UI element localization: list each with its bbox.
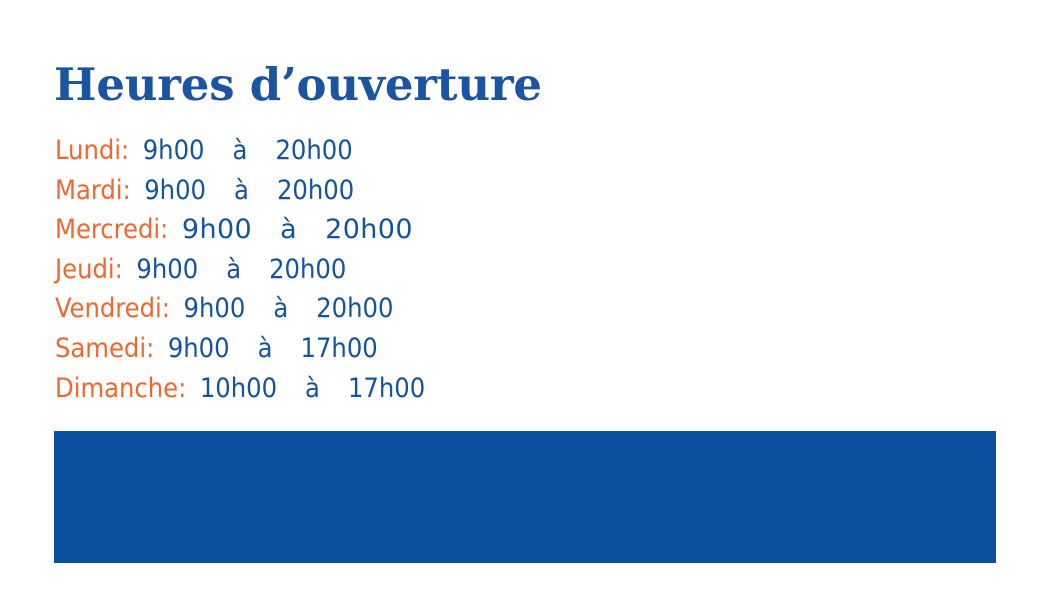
open-time-jeudi: 9h00 bbox=[136, 254, 198, 285]
close-time-lundi: 20h00 bbox=[275, 135, 352, 166]
close-time-jeudi: 20h00 bbox=[269, 254, 346, 285]
list-item: Jeudi: 9h00 à 20h00 bbox=[55, 250, 755, 290]
open-time-mercredi: 9h00 bbox=[182, 214, 252, 245]
time-separator-vendredi: à bbox=[273, 293, 288, 324]
open-time-samedi: 9h00 bbox=[168, 333, 230, 364]
day-label-jeudi: Jeudi: bbox=[55, 254, 123, 285]
time-separator-samedi: à bbox=[258, 333, 273, 364]
list-item: Dimanche: 10h00 à 17h00 bbox=[55, 369, 755, 409]
open-time-mardi: 9h00 bbox=[144, 175, 206, 206]
slide-canvas: Heures d’ouverture Lundi: 9h00 à 20h00 M… bbox=[0, 0, 1050, 600]
opening-hours-list: Lundi: 9h00 à 20h00 Mardi: 9h00 à 20h00 … bbox=[55, 131, 755, 408]
open-time-vendredi: 9h00 bbox=[184, 293, 246, 324]
day-label-dimanche: Dimanche: bbox=[55, 373, 186, 404]
day-label-mardi: Mardi: bbox=[55, 175, 131, 206]
list-item: Mercredi: 9h00 à 20h00 bbox=[55, 210, 755, 250]
close-time-dimanche: 17h00 bbox=[348, 373, 425, 404]
page-title: Heures d’ouverture bbox=[54, 59, 542, 111]
close-time-vendredi: 20h00 bbox=[316, 293, 393, 324]
time-separator-jeudi: à bbox=[226, 254, 241, 285]
close-time-mercredi: 20h00 bbox=[325, 214, 413, 245]
time-separator-mercredi: à bbox=[280, 214, 297, 245]
time-separator-lundi: à bbox=[233, 135, 248, 166]
time-separator-dimanche: à bbox=[305, 373, 320, 404]
close-time-mardi: 20h00 bbox=[277, 175, 354, 206]
content-placeholder-block bbox=[54, 431, 996, 563]
close-time-samedi: 17h00 bbox=[301, 333, 378, 364]
day-label-mercredi: Mercredi: bbox=[55, 214, 168, 245]
open-time-lundi: 9h00 bbox=[143, 135, 205, 166]
list-item: Vendredi: 9h00 à 20h00 bbox=[55, 289, 755, 329]
day-label-samedi: Samedi: bbox=[55, 333, 154, 364]
list-item: Samedi: 9h00 à 17h00 bbox=[55, 329, 755, 369]
list-item: Mardi: 9h00 à 20h00 bbox=[55, 171, 755, 211]
open-time-dimanche: 10h00 bbox=[200, 373, 277, 404]
day-label-lundi: Lundi: bbox=[55, 135, 129, 166]
day-label-vendredi: Vendredi: bbox=[55, 293, 170, 324]
time-separator-mardi: à bbox=[234, 175, 249, 206]
list-item: Lundi: 9h00 à 20h00 bbox=[55, 131, 755, 171]
